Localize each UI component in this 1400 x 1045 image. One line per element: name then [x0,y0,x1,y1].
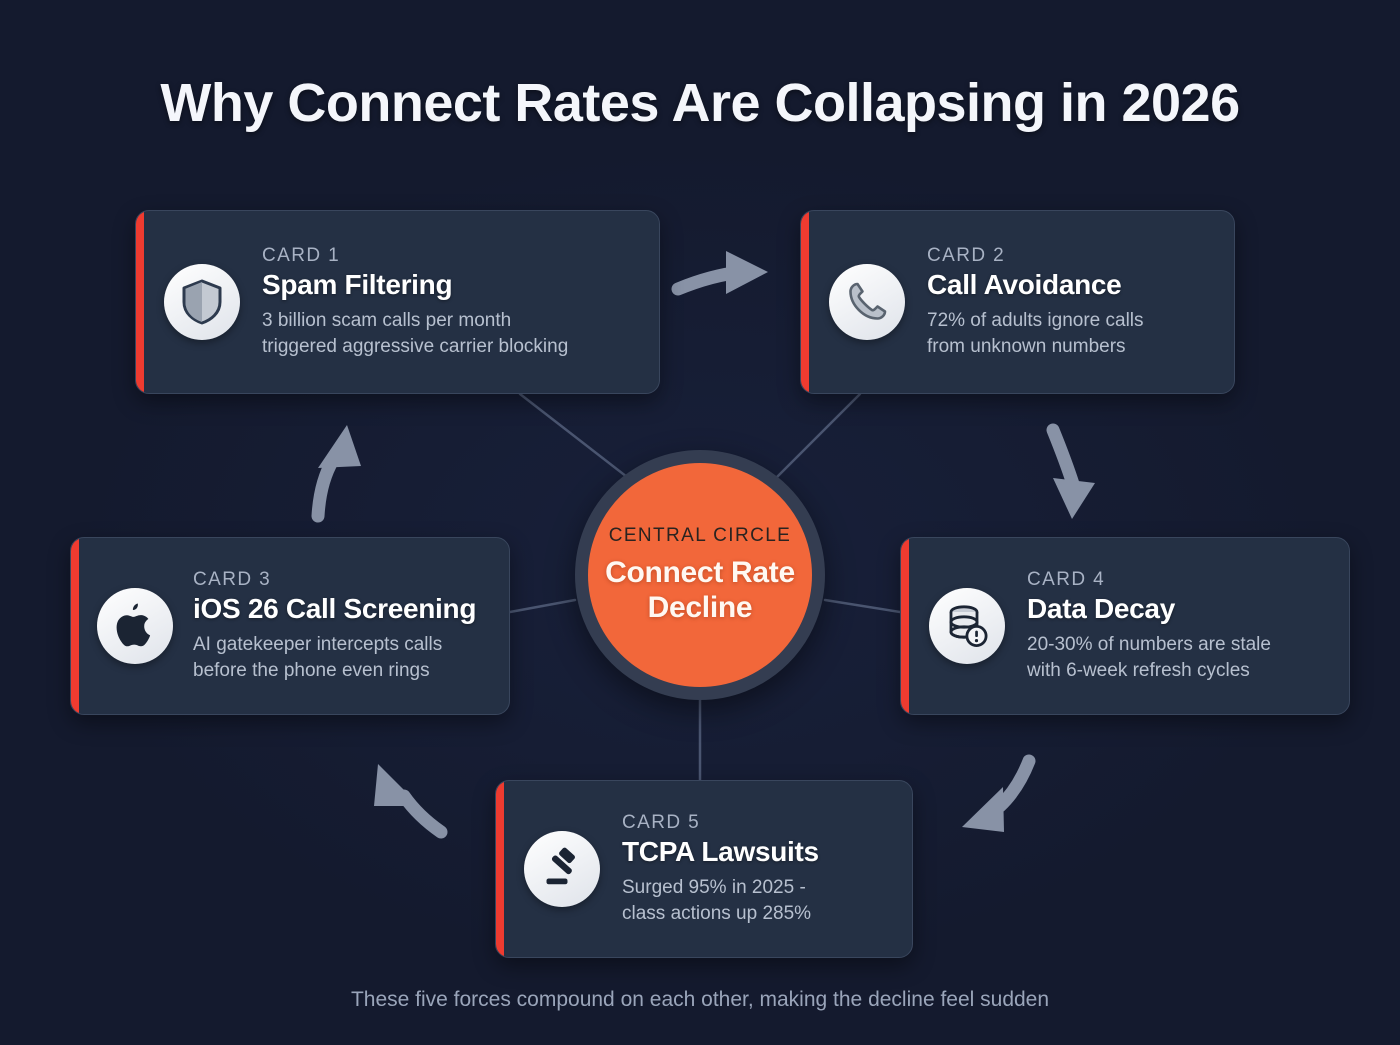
connector-center-to-card1 [520,394,640,487]
shield-icon [164,264,240,340]
database-warning-icon [929,588,1005,664]
card-accent-bar [136,211,144,393]
central-circle[interactable]: CENTRAL CIRCLE Connect Rate Decline [575,450,825,700]
card-headline: iOS 26 Call Screening [193,593,491,624]
card-body: CARD 5 TCPA Lawsuits Surged 95% in 2025 … [622,812,894,926]
card-call-avoidance[interactable]: CARD 2 Call Avoidance 72% of adults igno… [800,210,1235,394]
card-description: 3 billion scam calls per month triggered… [262,308,637,359]
card-body: CARD 3 iOS 26 Call Screening AI gatekeep… [193,569,491,683]
central-circle-title: Connect Rate Decline [605,555,795,626]
card-kicker: CARD 3 [193,569,491,591]
connector-center-to-card4 [825,600,900,612]
card-tcpa-lawsuits[interactable]: CARD 5 TCPA Lawsuits Surged 95% in 2025 … [495,780,913,958]
card-description: 72% of adults ignore calls from unknown … [927,308,1214,359]
card-headline: TCPA Lawsuits [622,836,894,867]
apple-logo-icon [97,588,173,664]
card-accent-bar [901,538,909,714]
card-body: CARD 2 Call Avoidance 72% of adults igno… [927,245,1214,359]
card-body: CARD 1 Spam Filtering 3 billion scam cal… [262,245,637,359]
card-headline: Spam Filtering [262,269,637,300]
card-headline: Data Decay [1027,593,1331,624]
phone-handset-icon [829,264,905,340]
card-body: CARD 4 Data Decay 20-30% of numbers are … [1027,569,1331,683]
central-circle-kicker: CENTRAL CIRCLE [609,525,792,547]
arrow-card1-to-card2 [678,251,768,294]
infographic-canvas: Why Connect Rates Are Collapsing in 2026 [0,0,1400,1045]
card-accent-bar [801,211,809,393]
card-description: AI gatekeeper intercepts calls before th… [193,632,491,683]
card-accent-bar [496,781,504,957]
card-kicker: CARD 4 [1027,569,1331,591]
gavel-icon [524,831,600,907]
central-circle-title-line1: Connect Rate [605,556,795,589]
card-headline: Call Avoidance [927,269,1214,300]
card-accent-bar [71,538,79,714]
card-data-decay[interactable]: CARD 4 Data Decay 20-30% of numbers are … [900,537,1350,715]
card-ios-26-call-screening[interactable]: CARD 3 iOS 26 Call Screening AI gatekeep… [70,537,510,715]
arrow-card5-to-card3 [374,764,441,832]
card-description: 20-30% of numbers are stale with 6-week … [1027,632,1331,683]
card-spam-filtering[interactable]: CARD 1 Spam Filtering 3 billion scam cal… [135,210,660,394]
connector-center-to-card3 [510,600,575,612]
arrow-card2-to-card4 [1053,430,1095,519]
card-kicker: CARD 2 [927,245,1214,267]
connector-center-to-card2 [772,394,860,482]
footer-caption: These five forces compound on each other… [0,988,1400,1012]
card-kicker: CARD 5 [622,812,894,834]
arrow-card4-to-card5 [962,761,1029,832]
central-circle-title-line2: Decline [648,591,753,624]
card-kicker: CARD 1 [262,245,637,267]
arrow-card3-to-card1 [318,425,361,516]
card-description: Surged 95% in 2025 - class actions up 28… [622,875,894,926]
